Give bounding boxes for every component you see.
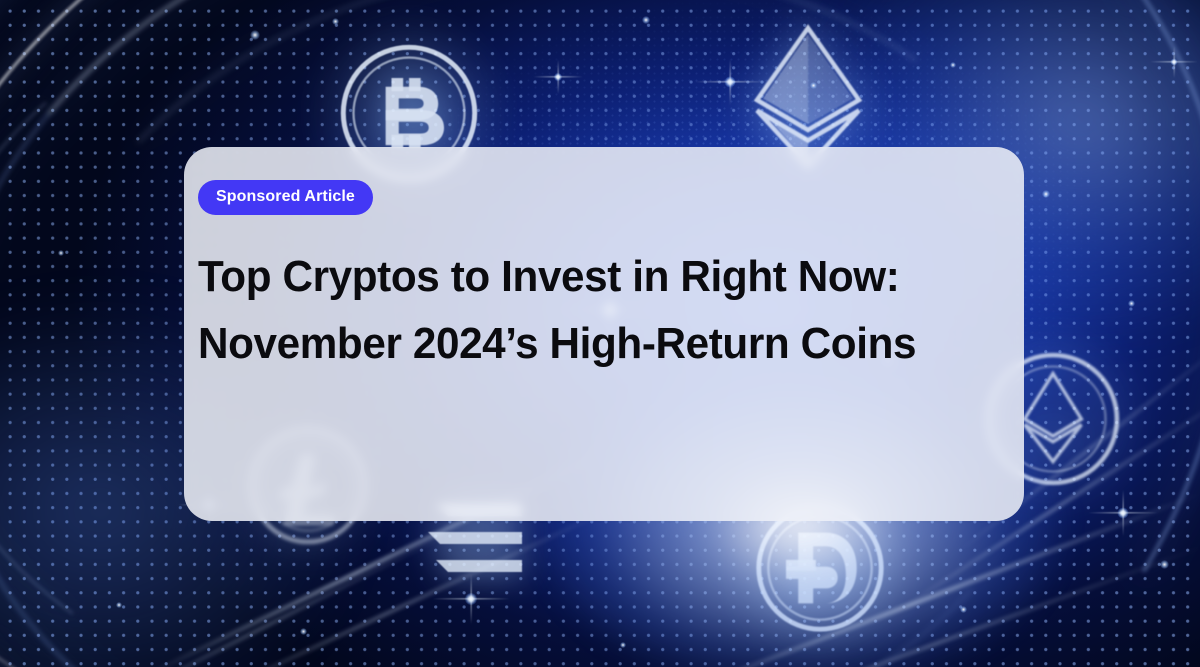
article-card: Sponsored Article Top Cryptos to Invest … — [184, 147, 1024, 521]
article-card-content: Sponsored Article Top Cryptos to Invest … — [184, 147, 1024, 521]
sponsored-article-badge: Sponsored Article — [198, 180, 373, 215]
page-title: Top Cryptos to Invest in Right Now: Nove… — [198, 243, 956, 377]
hero-banner: Sponsored Article Top Cryptos to Invest … — [0, 0, 1200, 667]
